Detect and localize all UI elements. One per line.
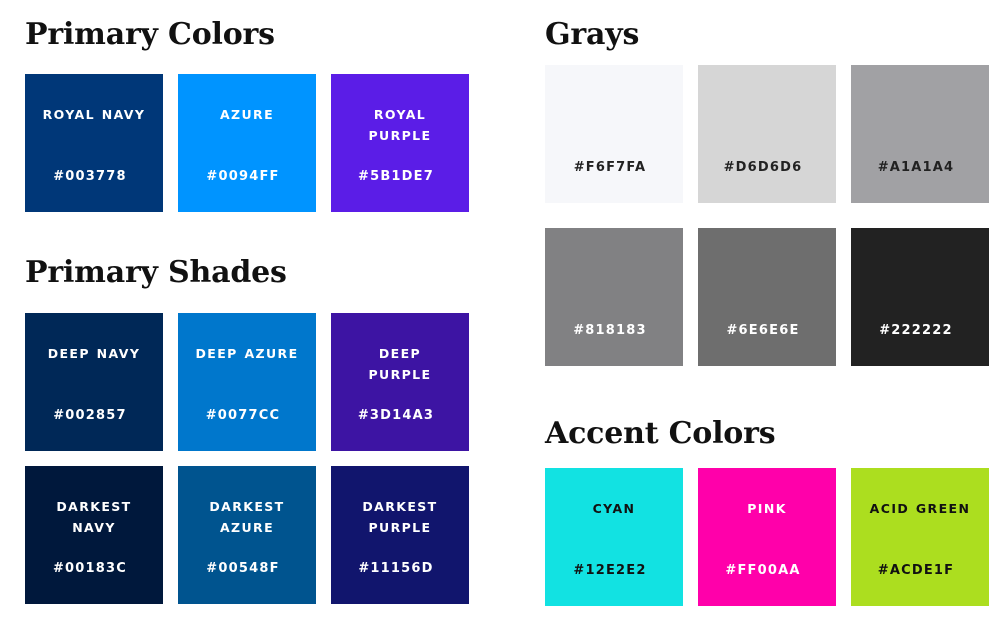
swatch-hex-value: #00183C: [25, 558, 155, 579]
swatch-hex-value: #F6F7FA: [545, 157, 675, 178]
swatch-name-label: AZURE: [195, 104, 299, 125]
swatch-hex-value: #00548F: [178, 558, 308, 579]
swatch-name-label: ROYAL NAVY: [42, 104, 146, 125]
swatch-hex-value: #222222: [851, 320, 981, 341]
swatch-row-grays-dark: #818183#6E6E6E#222222: [545, 228, 989, 366]
section-heading-primary-shades: Primary Shades: [25, 258, 287, 288]
swatch-row-darkest-shades: DARKEST NAVY#00183CDARKEST AZURE#00548FD…: [25, 466, 469, 604]
color-swatch[interactable]: ROYAL NAVY#003778: [25, 74, 163, 212]
swatch-hex-value: #12E2E2: [545, 560, 675, 581]
section-heading-grays: Grays: [545, 20, 639, 50]
section-heading-accent-colors: Accent Colors: [545, 419, 775, 449]
swatch-hex-value: #ACDE1F: [851, 560, 981, 581]
swatch-name-label: DEEP PURPLE: [348, 343, 452, 385]
color-swatch[interactable]: DARKEST AZURE#00548F: [178, 466, 316, 604]
swatch-name-label: DEEP NAVY: [42, 343, 146, 364]
swatch-name-label: DEEP AZURE: [195, 343, 299, 364]
swatch-name-label: DARKEST PURPLE: [348, 496, 452, 538]
swatch-row-grays-light: #F6F7FA#D6D6D6#A1A1A4: [545, 65, 989, 203]
swatch-row-primary-colors: ROYAL NAVY#003778AZURE#0094FFROYAL PURPL…: [25, 74, 469, 212]
color-swatch[interactable]: PINK#FF00AA: [698, 468, 836, 606]
section-heading-primary-colors: Primary Colors: [25, 20, 275, 50]
color-swatch[interactable]: #D6D6D6: [698, 65, 836, 203]
swatch-name-label: DARKEST NAVY: [42, 496, 146, 538]
color-swatch[interactable]: DEEP NAVY#002857: [25, 313, 163, 451]
swatch-name-label: ROYAL PURPLE: [348, 104, 452, 146]
color-swatch[interactable]: #222222: [851, 228, 989, 366]
swatch-hex-value: #5B1DE7: [331, 166, 461, 187]
swatch-hex-value: #6E6E6E: [698, 320, 828, 341]
swatch-name-label: CYAN: [562, 498, 666, 519]
swatch-hex-value: #11156D: [331, 558, 461, 579]
color-swatch[interactable]: DEEP PURPLE#3D14A3: [331, 313, 469, 451]
color-swatch[interactable]: AZURE#0094FF: [178, 74, 316, 212]
swatch-hex-value: #002857: [25, 405, 155, 426]
swatch-name-label: DARKEST AZURE: [195, 496, 299, 538]
swatch-hex-value: #A1A1A4: [851, 157, 981, 178]
swatch-hex-value: #003778: [25, 166, 155, 187]
swatch-name-label: PINK: [715, 498, 819, 519]
color-swatch[interactable]: DEEP AZURE#0077CC: [178, 313, 316, 451]
swatch-hex-value: #0077CC: [178, 405, 308, 426]
swatch-row-deep-shades: DEEP NAVY#002857DEEP AZURE#0077CCDEEP PU…: [25, 313, 469, 451]
color-swatch[interactable]: #A1A1A4: [851, 65, 989, 203]
swatch-row-accent-colors: CYAN#12E2E2PINK#FF00AAACID GREEN#ACDE1F: [545, 468, 989, 606]
color-swatch[interactable]: #818183: [545, 228, 683, 366]
color-swatch[interactable]: DARKEST PURPLE#11156D: [331, 466, 469, 604]
swatch-name-label: ACID GREEN: [868, 498, 972, 519]
color-swatch[interactable]: #F6F7FA: [545, 65, 683, 203]
swatch-hex-value: #FF00AA: [698, 560, 828, 581]
color-swatch[interactable]: ACID GREEN#ACDE1F: [851, 468, 989, 606]
swatch-hex-value: #0094FF: [178, 166, 308, 187]
swatch-hex-value: #818183: [545, 320, 675, 341]
color-swatch[interactable]: #6E6E6E: [698, 228, 836, 366]
color-palette-page: Primary Colors ROYAL NAVY#003778AZURE#00…: [0, 0, 1000, 625]
swatch-hex-value: #D6D6D6: [698, 157, 828, 178]
swatch-hex-value: #3D14A3: [331, 405, 461, 426]
color-swatch[interactable]: DARKEST NAVY#00183C: [25, 466, 163, 604]
color-swatch[interactable]: CYAN#12E2E2: [545, 468, 683, 606]
color-swatch[interactable]: ROYAL PURPLE#5B1DE7: [331, 74, 469, 212]
